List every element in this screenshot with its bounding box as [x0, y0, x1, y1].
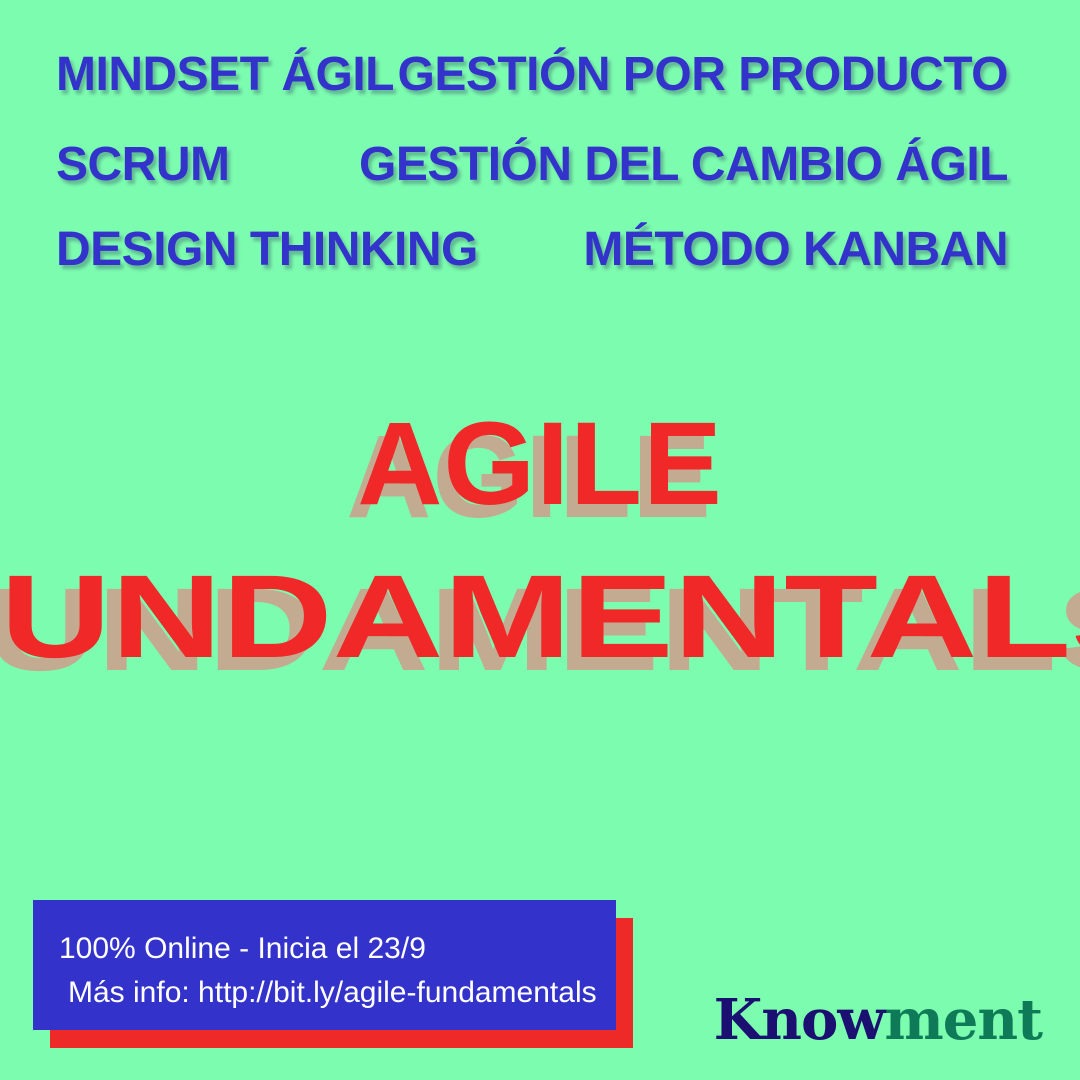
logo-text-ment: ment: [885, 987, 1042, 1053]
knowment-logo: Knowment: [714, 992, 1042, 1048]
topic-metodo-kanban: MÉTODO KANBAN: [583, 226, 1008, 274]
topic-gestion-del-cambio-agil: GESTIÓN DEL CAMBIO ÁGIL: [359, 141, 1008, 189]
topic-scrum: SCRUM: [56, 141, 230, 189]
info-card-link[interactable]: Más info: http://bit.ly/agile-fundamenta…: [59, 971, 616, 1015]
topic-design-thinking: DESIGN THINKING: [56, 226, 478, 274]
info-card: 100% Online - Inicia el 23/9 Más info: h…: [33, 900, 616, 1030]
poster-canvas: MINDSET ÁGIL SCRUM DESIGN THINKING GESTI…: [0, 0, 1080, 1080]
course-title-line-2: FUNDAMENTALS: [0, 558, 1080, 676]
course-title: AGILE FUNDAMENTALS: [0, 405, 1080, 676]
topic-gestion-por-producto: GESTIÓN POR PRODUCTO: [397, 51, 1008, 99]
info-card-schedule: 100% Online - Inicia el 23/9: [59, 927, 616, 971]
course-title-line-1: AGILE: [0, 405, 1080, 523]
logo-text-know: Know: [714, 987, 885, 1053]
topic-mindset-agil: MINDSET ÁGIL: [56, 51, 394, 99]
